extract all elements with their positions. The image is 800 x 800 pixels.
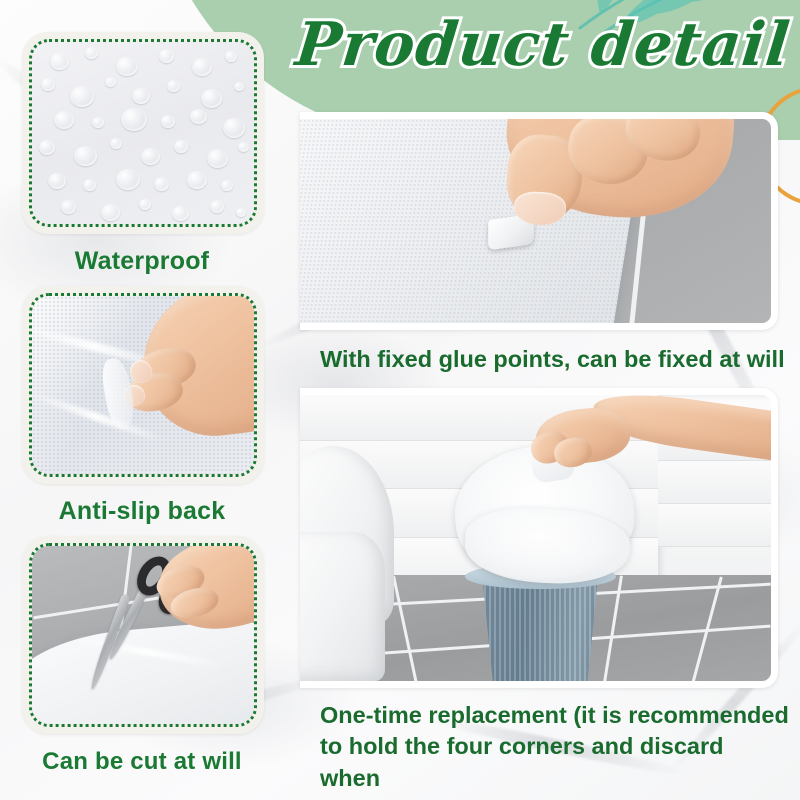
feature-card-cuttable (22, 536, 264, 734)
one-time-replacement-photo-card (300, 388, 778, 688)
hand-pinching-fabric-photo (32, 296, 254, 474)
feature-label-anti-slip: Anti-slip back (0, 497, 292, 526)
hand-lifting-liner-from-bin-photo (300, 395, 771, 681)
glue-points-photo-card (300, 112, 778, 330)
feature-label-cuttable: Can be cut at will (0, 748, 292, 776)
caption-glue-points: With fixed glue points, can be fixed at … (320, 344, 790, 375)
scissors-cutting-fabric-photo (32, 546, 254, 724)
caption-one-time-replacement: One-time replacement (it is recommended … (320, 700, 790, 800)
feature-card-anti-slip (22, 286, 264, 484)
hand-peeling-glue-tab-photo (300, 119, 771, 323)
caption-line-2: to hold the four corners and discard whe… (320, 731, 790, 794)
cuttable-photo-frame (29, 543, 257, 727)
page-title: Product detail (293, 14, 793, 77)
waterproof-photo-frame (29, 39, 257, 227)
feature-card-waterproof (22, 32, 264, 234)
water-droplets-on-fabric-photo (32, 42, 254, 224)
anti-slip-photo-frame (29, 293, 257, 477)
caption-line-1: One-time replacement (it is recommended (320, 700, 790, 731)
caption-line-3: not in use) (320, 794, 790, 800)
feature-label-waterproof: Waterproof (0, 247, 292, 276)
